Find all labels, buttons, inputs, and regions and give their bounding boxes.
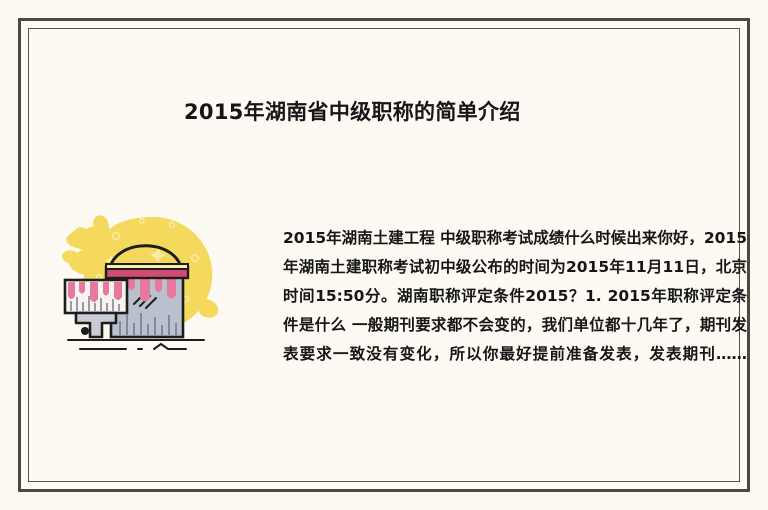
page-root: 2015年湖南省中级职称的简单介绍 xyxy=(0,0,768,510)
paint-bucket-and-brush-illustration xyxy=(54,203,229,358)
ground-line xyxy=(68,340,204,349)
page-title: 2015年湖南省中级职称的简单介绍 xyxy=(184,96,521,126)
article-body-text: 2015年湖南土建工程 中级职称考试成绩什么时候出来你好，2015年湖南土建职称… xyxy=(283,224,747,369)
